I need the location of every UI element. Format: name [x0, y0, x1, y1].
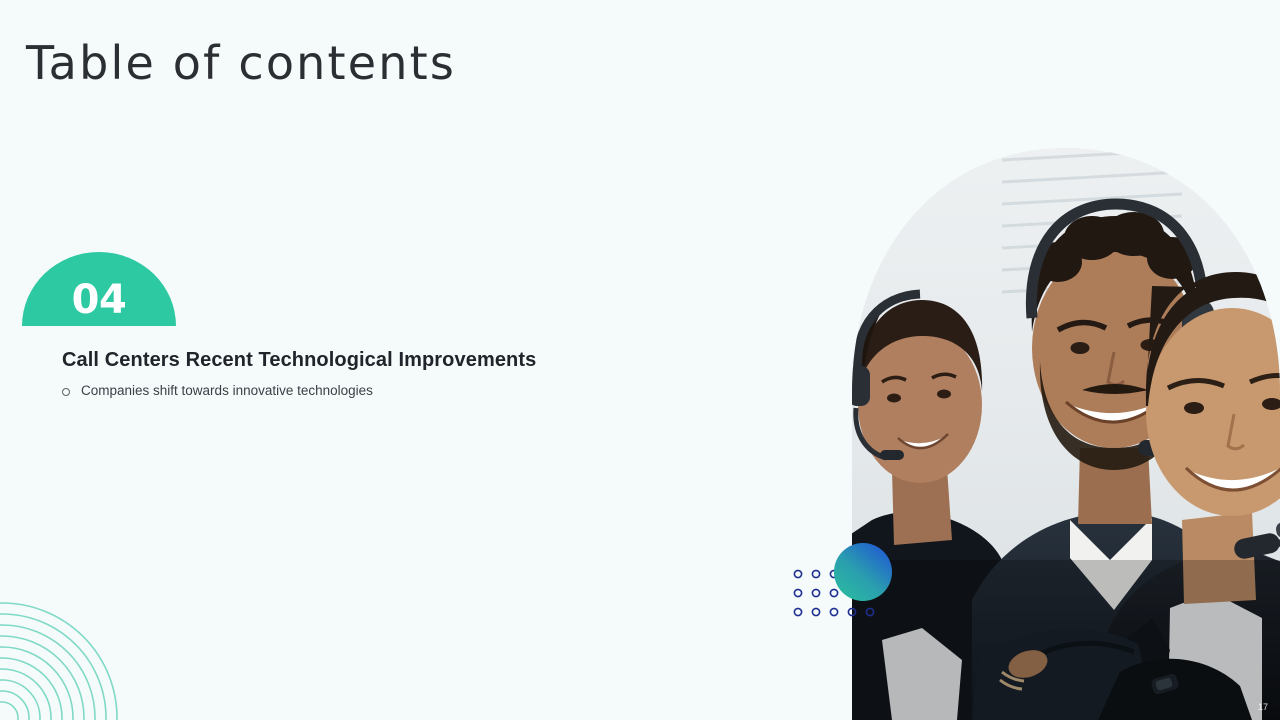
page-title: Table of contents — [26, 36, 456, 90]
entry-bullet-list: Companies shift towards innovative techn… — [62, 382, 782, 401]
entry-number-label: 04 — [22, 280, 176, 320]
gradient-accent-circle — [834, 543, 892, 601]
concentric-rings-decoration — [0, 598, 122, 720]
bullet-text: Companies shift towards innovative techn… — [81, 382, 373, 401]
circle-bullet-icon — [62, 388, 70, 396]
page-number: 17 — [1258, 702, 1268, 712]
slide-canvas: Table of contents 04 Call Centers Recent… — [0, 0, 1280, 720]
list-item: Companies shift towards innovative techn… — [62, 382, 782, 401]
toc-entry: Call Centers Recent Technological Improv… — [62, 348, 782, 401]
entry-number-badge: 04 — [22, 252, 176, 326]
entry-heading: Call Centers Recent Technological Improv… — [62, 348, 782, 372]
team-photo — [852, 0, 1280, 720]
